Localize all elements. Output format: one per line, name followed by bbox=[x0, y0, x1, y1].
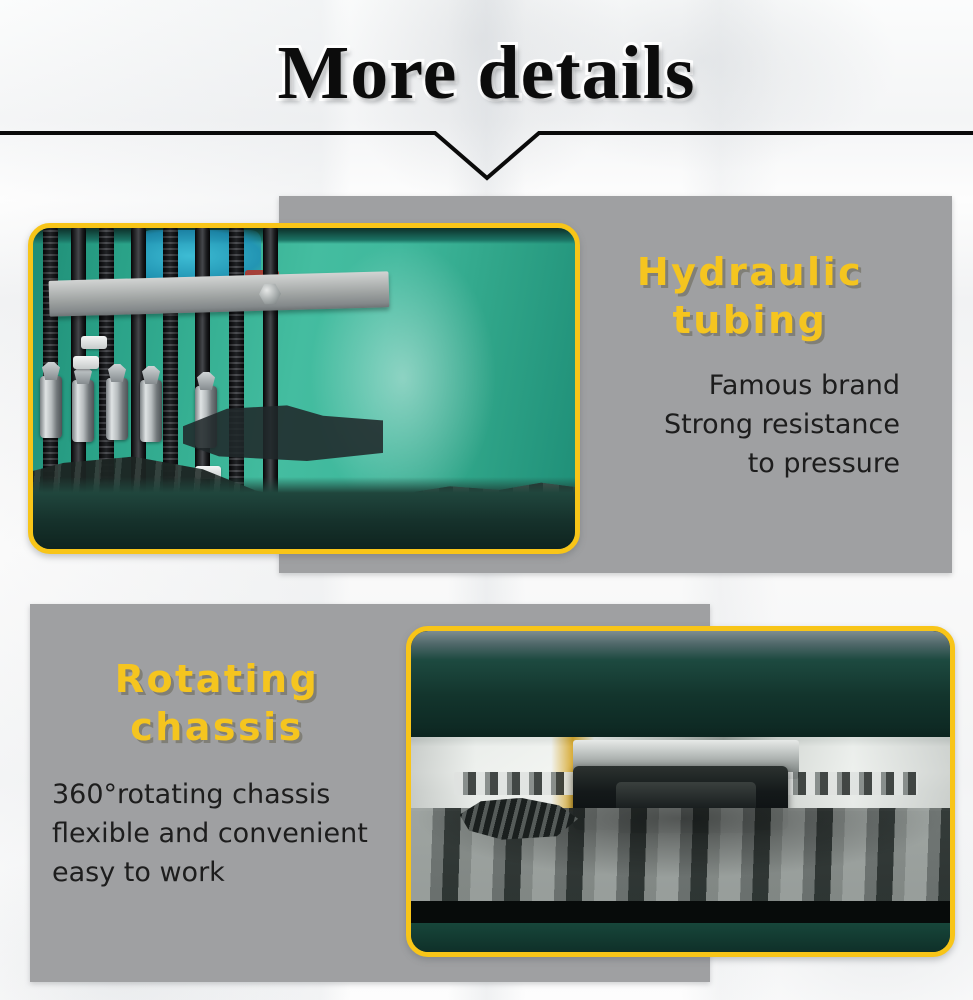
body-line: to pressure bbox=[600, 444, 900, 483]
heading-line: Hydraulic bbox=[600, 248, 900, 296]
photo-inner bbox=[411, 631, 950, 952]
feature-text-rotating-chassis: Rotating chassis 360°rotating chassis fl… bbox=[52, 655, 382, 892]
ground-shadow bbox=[33, 477, 575, 549]
page-background: More details bbox=[0, 0, 973, 1000]
chevron-down-icon bbox=[0, 133, 973, 178]
body-line: Famous brand bbox=[600, 366, 900, 405]
body-line: easy to work bbox=[52, 853, 382, 892]
body-line: Strong resistance bbox=[600, 405, 900, 444]
divider-with-chevron-notch bbox=[0, 118, 973, 188]
body-line: 360°rotating chassis bbox=[52, 775, 382, 814]
photo-inner bbox=[33, 228, 575, 549]
cable-tie bbox=[73, 356, 99, 369]
hose-ferrule bbox=[72, 380, 94, 442]
feature-heading-hydraulic-tubing: Hydraulic tubing bbox=[600, 248, 900, 344]
body-line: flexible and convenient bbox=[52, 814, 382, 853]
feature-body-hydraulic-tubing: Famous brand Strong resistance to pressu… bbox=[600, 366, 900, 483]
feature-body-rotating-chassis: 360°rotating chassis flexible and conven… bbox=[52, 775, 382, 892]
feature-heading-rotating-chassis: Rotating chassis bbox=[52, 655, 382, 751]
feature-text-hydraulic-tubing: Hydraulic tubing Famous brand Strong res… bbox=[600, 248, 900, 483]
heading-line: chassis bbox=[52, 703, 382, 751]
feature-photo-rotating-chassis bbox=[406, 626, 955, 957]
hose-ferrule bbox=[40, 376, 62, 438]
feature-photo-hydraulic-tubing bbox=[28, 223, 580, 554]
lower-frame-bar bbox=[411, 901, 950, 923]
hose-ferrule bbox=[106, 378, 128, 440]
green-base-plate bbox=[411, 923, 950, 952]
hose-ferrule bbox=[140, 380, 162, 442]
page-title: More details bbox=[0, 28, 973, 118]
heading-line: Rotating bbox=[52, 655, 382, 703]
cable-tie bbox=[81, 336, 107, 349]
heading-line: tubing bbox=[600, 296, 900, 344]
